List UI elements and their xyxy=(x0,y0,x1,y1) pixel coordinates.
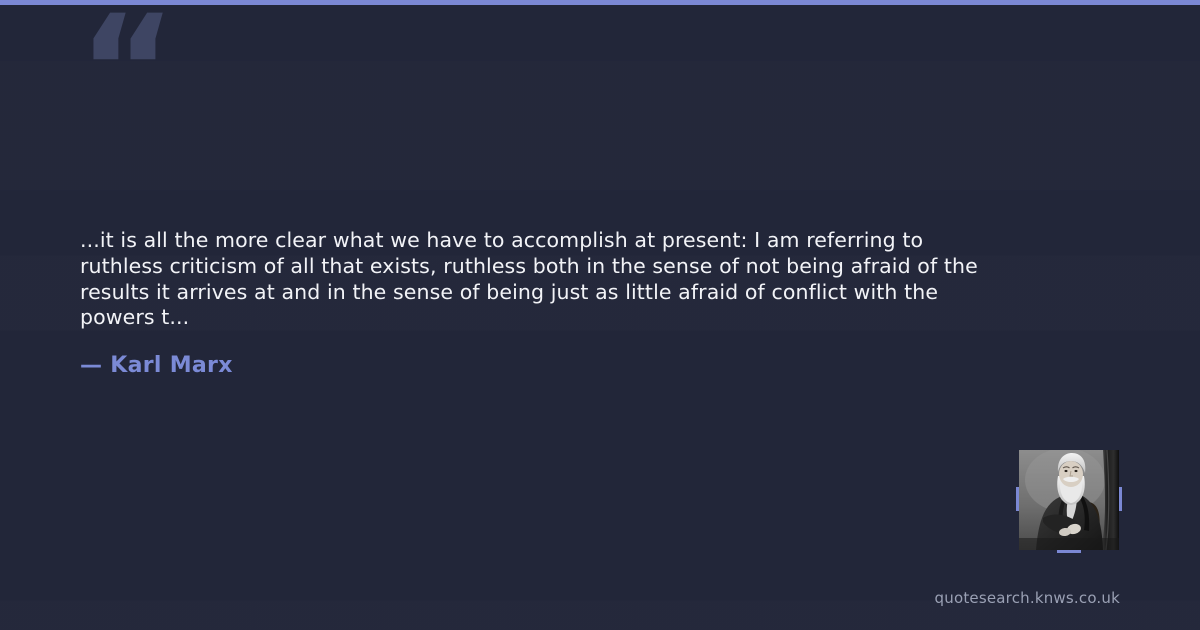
portrait-accent-bottom xyxy=(1057,550,1081,553)
quote-text: ...it is all the more clear what we have… xyxy=(80,228,1010,331)
quote-author: — Karl Marx xyxy=(80,353,233,378)
open-quote-icon: “ xyxy=(78,0,175,146)
site-url: quotesearch.knws.co.uk xyxy=(935,589,1120,607)
top-accent-bar xyxy=(0,0,1200,5)
portrait-accent-right xyxy=(1119,487,1122,511)
author-portrait-image xyxy=(1019,450,1119,550)
portrait-accent-left xyxy=(1016,487,1019,511)
quote-card: “ ...it is all the more clear what we ha… xyxy=(0,0,1200,630)
author-portrait xyxy=(1019,450,1119,550)
